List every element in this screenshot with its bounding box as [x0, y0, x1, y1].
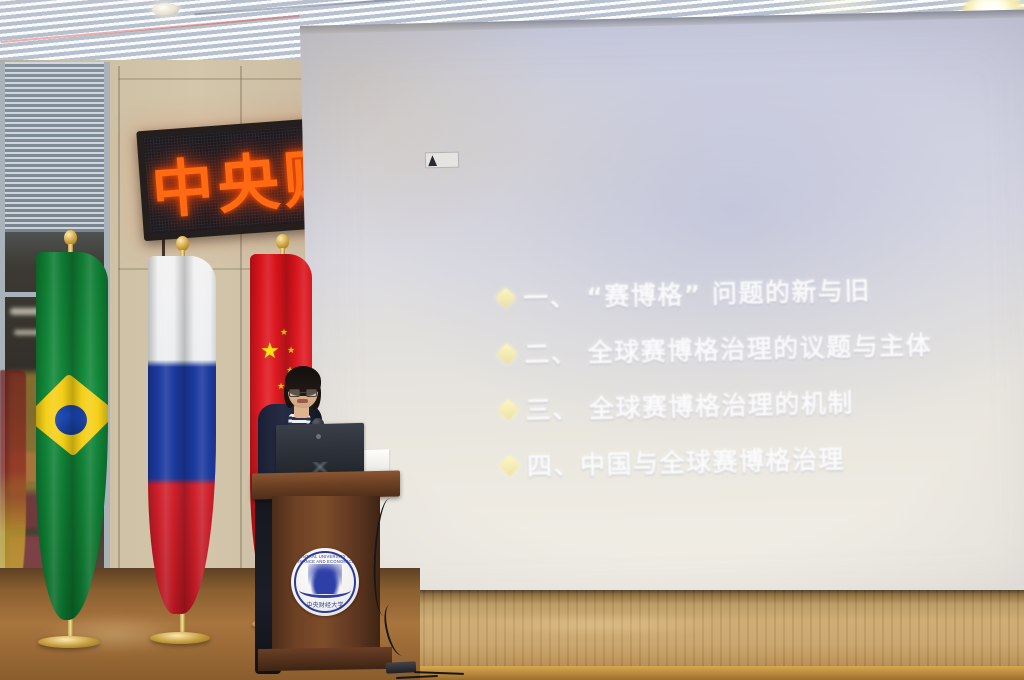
russia-flag-finial: [176, 236, 189, 251]
power-adapter: [386, 661, 417, 674]
emblem-bottom-text: 中央财经大学: [291, 600, 359, 609]
glasses-lens: [306, 389, 317, 397]
flag-fold-shading: [36, 252, 108, 620]
diamond-bullet-icon: [496, 343, 517, 364]
slide-line-text: 一、 “赛博格” 问题的新与旧: [523, 271, 872, 315]
laptop: [276, 423, 364, 477]
brazil-flag-base: [38, 636, 100, 648]
reflected-flag: [0, 370, 26, 595]
slide-bullet-line: 一、 “赛博格” 问题的新与旧: [498, 268, 1019, 316]
photo-scene: 中央财 一、 “赛博格” 问题的新与旧 二、 全球赛博格治理的议题与主体 三、 …: [0, 0, 1024, 680]
diamond-bullet-icon: [499, 455, 520, 476]
diamond-bullet-icon: [495, 287, 516, 308]
flag-fold-shading: [148, 256, 216, 614]
lectern-base: [258, 647, 392, 671]
emblem-top-text: CENTRAL UNIVERSITY OF FINANCE AND ECONOM…: [291, 554, 359, 564]
slide-bullet-line: 三、 全球赛博格治理的机制: [500, 380, 1021, 428]
projection-screen: 一、 “赛博格” 问题的新与旧 二、 全球赛博格治理的议题与主体 三、 全球赛博…: [300, 9, 1024, 622]
glasses-bridge: [300, 392, 306, 393]
university-emblem: CENTRAL UNIVERSITY OF FINANCE AND ECONOM…: [291, 548, 359, 616]
brazil-flag-finial: [64, 230, 77, 245]
slide-content: 一、 “赛博格” 问题的新与旧 二、 全球赛博格治理的议题与主体 三、 全球赛博…: [498, 268, 1023, 504]
slide-line-text: 二、 全球赛博格治理的议题与主体: [524, 326, 932, 371]
glasses-lens: [289, 389, 300, 397]
screen-warm-cast: [300, 20, 557, 264]
notice-triangle-icon: [428, 155, 437, 166]
laptop-logo-icon: [316, 434, 321, 439]
slide-bullet-line: 四、中国与全球赛博格治理: [502, 436, 1023, 484]
wall-notice-tag: [425, 152, 459, 169]
floor-reflection: [470, 614, 730, 636]
slide-line-text: 四、中国与全球赛博格治理: [527, 440, 846, 483]
slide-line-text: 三、 全球赛博格治理的机制: [525, 384, 854, 427]
brazil-flag: [36, 252, 108, 620]
window-blind: [2, 62, 106, 232]
russia-flag-base: [150, 632, 210, 644]
russia-flag: [148, 256, 216, 614]
diamond-bullet-icon: [498, 399, 519, 420]
presenter-glasses: [289, 389, 317, 397]
china-flag-finial: [276, 234, 289, 249]
slide-bullet-line: 二、 全球赛博格治理的议题与主体: [499, 324, 1020, 372]
presenter-mouth: [297, 399, 308, 403]
ceiling-downlight: [152, 3, 179, 16]
